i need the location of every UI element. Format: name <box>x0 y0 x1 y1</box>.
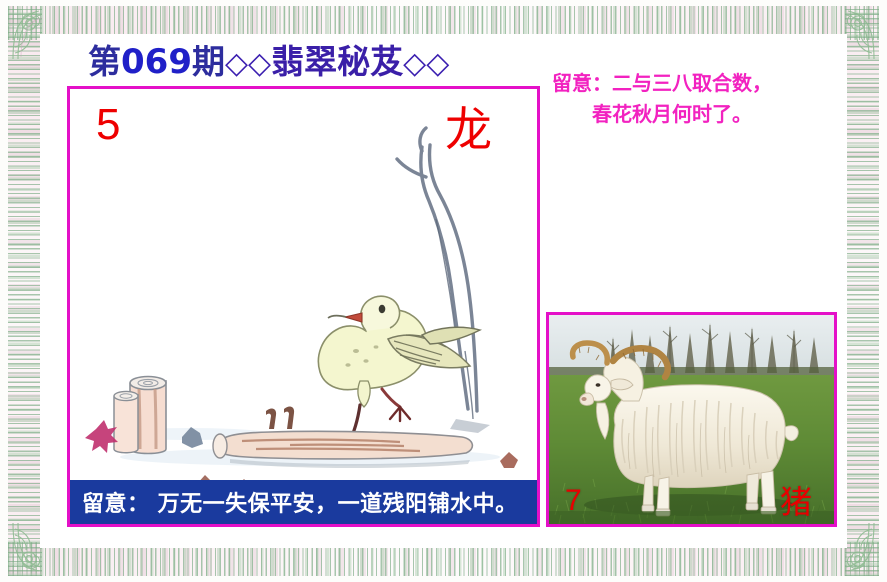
lace-border-left-icon <box>8 6 42 576</box>
note-line-2: 春花秋月何时了。 <box>552 99 842 130</box>
main-zodiac: 龙 <box>445 107 492 154</box>
title-diamond-right: ◇◇ <box>403 46 449 81</box>
note-line-1: 留意：二与三八取合数， <box>552 71 772 95</box>
main-number: 5 <box>96 103 120 147</box>
main-banner-text: 留意： 万无一失保平安，一道残阳铺水中。 <box>70 486 518 518</box>
content-canvas: 第069期◇◇翡翠秘芨◇◇ <box>40 34 847 548</box>
main-banner: 留意： 万无一失保平安，一道残阳铺水中。 <box>70 480 537 524</box>
title-diamond-left: ◇◇ <box>225 46 271 81</box>
photo-number: 7 <box>565 486 582 516</box>
poster-root: 第069期◇◇翡翠秘芨◇◇ <box>0 0 887 582</box>
page-title: 第069期◇◇翡翠秘芨◇◇ <box>88 35 449 83</box>
main-illustration-panel[interactable]: 5 龙 留意： 万无一失保平安，一道残阳铺水中。 <box>67 86 540 527</box>
title-issue-suffix: 期 <box>192 42 225 81</box>
photo-panel[interactable]: 7 猪 <box>546 312 837 527</box>
lace-border-right-icon <box>845 6 879 576</box>
photo-zodiac: 猪 <box>780 486 812 518</box>
title-issue-prefix: 第 <box>88 42 121 81</box>
title-series-name: 翡翠秘芨 <box>271 42 403 81</box>
note-text: 留意：二与三八取合数， 春花秋月何时了。 <box>552 68 842 130</box>
title-issue-number: 069 <box>121 42 192 82</box>
